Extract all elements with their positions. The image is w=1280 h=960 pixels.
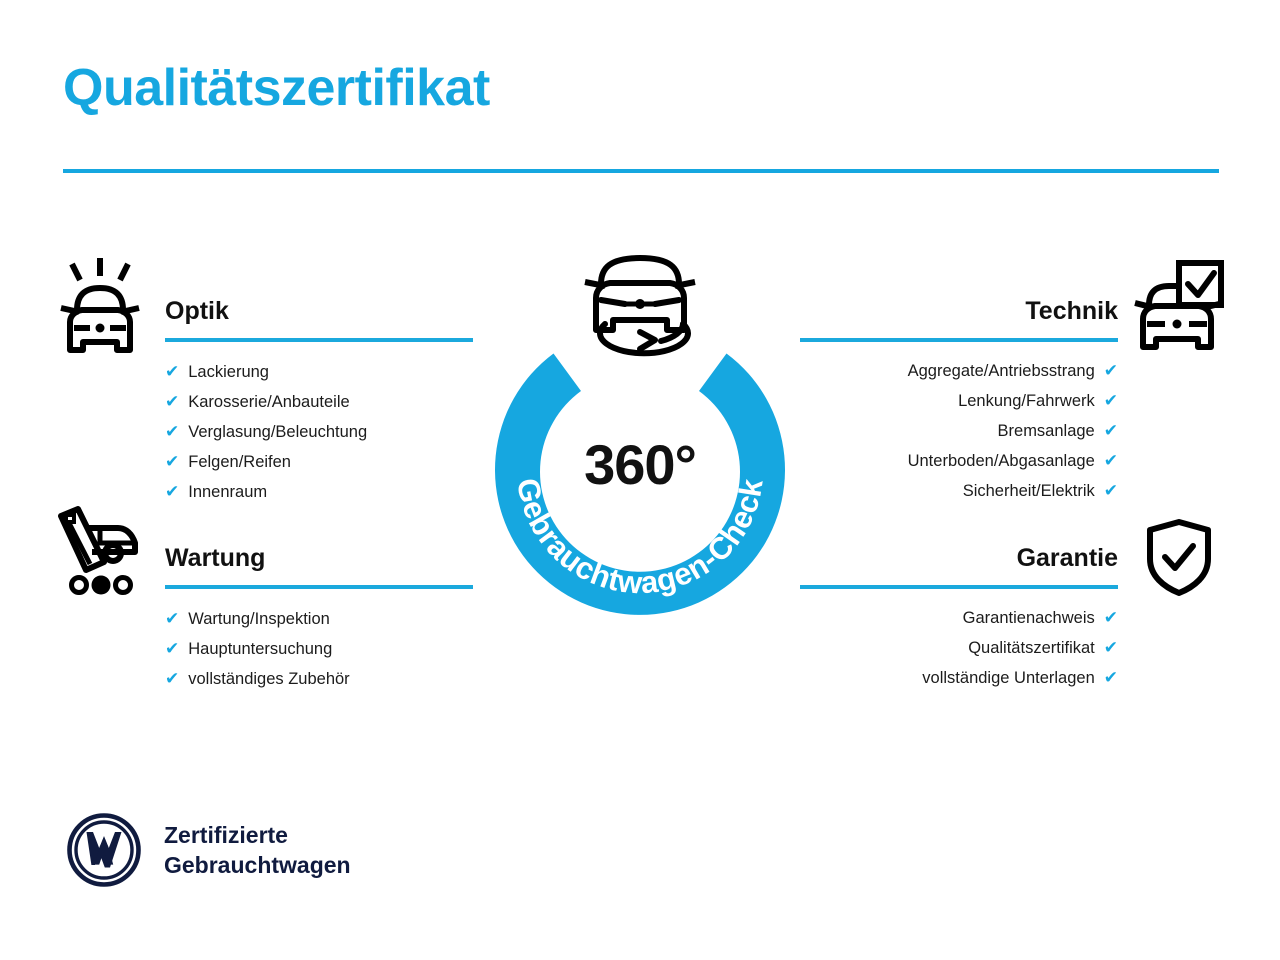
gebrauchtwagen-check-badge: Gebrauchtwagen-Check 360° [465, 250, 815, 640]
check-icon: ✔ [165, 387, 179, 417]
checklist-garantie: Garantienachweis✔ Qualitätszertifikat✔ v… [800, 603, 1118, 693]
section-divider-optik [165, 338, 473, 342]
list-item-label: vollständiges Zubehör [188, 664, 349, 694]
car-shine-icon [57, 256, 143, 361]
brand-wordmark: Zertifizierte Gebrauchtwagen [164, 820, 351, 880]
section-title-optik: Optik [165, 296, 473, 326]
brand-lockup: Zertifizierte Gebrauchtwagen [66, 812, 351, 888]
brand-line-1: Zertifizierte [164, 820, 351, 850]
shield-check-icon [1145, 518, 1213, 601]
list-item: Bremsanlage✔ [800, 416, 1118, 446]
list-item-label: Bremsanlage [998, 416, 1095, 446]
brand-line-2: Gebrauchtwagen [164, 850, 351, 880]
list-item-label: Verglasung/Beleuchtung [188, 417, 367, 447]
check-icon: ✔ [1104, 476, 1118, 506]
check-icon: ✔ [165, 447, 179, 477]
list-item: Unterboden/Abgasanlage✔ [800, 446, 1118, 476]
list-item: ✔Hauptuntersuchung [165, 634, 473, 664]
section-title-garantie: Garantie [800, 543, 1118, 573]
list-item-label: Lenkung/Fahrwerk [958, 386, 1095, 416]
section-header-garantie: Garantie [800, 543, 1118, 589]
check-icon: ✔ [165, 417, 179, 447]
checklist-optik: ✔Lackierung ✔Karosserie/Anbauteile ✔Verg… [165, 357, 473, 507]
list-item-label: vollständige Unterlagen [922, 663, 1094, 693]
list-item-label: Karosserie/Anbauteile [188, 387, 349, 417]
volkswagen-logo-icon [66, 812, 142, 888]
car-checkbox-icon [1133, 259, 1225, 356]
section-divider-garantie [800, 585, 1118, 589]
list-item-label: Innenraum [188, 477, 267, 507]
section-divider-technik [800, 338, 1118, 342]
section-title-technik: Technik [800, 296, 1118, 326]
section-wartung: Wartung ✔Wartung/Inspektion ✔Hauptunters… [165, 543, 473, 694]
check-icon: ✔ [1104, 603, 1118, 633]
badge-value: 360° [465, 435, 815, 495]
check-icon: ✔ [1104, 356, 1118, 386]
check-icon: ✔ [1104, 416, 1118, 446]
section-garantie: Garantie Garantienachweis✔ Qualitätszert… [800, 543, 1118, 693]
list-item: ✔vollständiges Zubehör [165, 664, 473, 694]
list-item: ✔Wartung/Inspektion [165, 604, 473, 634]
list-item: ✔Lackierung [165, 357, 473, 387]
section-header-optik: Optik [165, 296, 473, 342]
section-title-wartung: Wartung [165, 543, 473, 573]
check-icon: ✔ [165, 604, 179, 634]
list-item: ✔Verglasung/Beleuchtung [165, 417, 473, 447]
list-item: Sicherheit/Elektrik✔ [800, 476, 1118, 506]
title-divider [63, 169, 1219, 173]
list-item-label: Sicherheit/Elektrik [963, 476, 1095, 506]
section-header-wartung: Wartung [165, 543, 473, 589]
check-icon: ✔ [1104, 633, 1118, 663]
check-icon: ✔ [165, 634, 179, 664]
check-icon: ✔ [1104, 663, 1118, 693]
car-lift-service-icon [56, 506, 146, 603]
list-item: Lenkung/Fahrwerk✔ [800, 386, 1118, 416]
checklist-wartung: ✔Wartung/Inspektion ✔Hauptuntersuchung ✔… [165, 604, 473, 694]
section-header-technik: Technik [800, 296, 1118, 342]
list-item-label: Garantienachweis [963, 603, 1095, 633]
list-item-label: Hauptuntersuchung [188, 634, 332, 664]
list-item: Qualitätszertifikat✔ [800, 633, 1118, 663]
car-rotate-360-icon [565, 250, 715, 360]
checklist-technik: Aggregate/Antriebsstrang✔ Lenkung/Fahrwe… [800, 356, 1118, 506]
section-optik: Optik ✔Lackierung ✔Karosserie/Anbauteile… [165, 296, 473, 507]
section-technik: Technik Aggregate/Antriebsstrang✔ Lenkun… [800, 296, 1118, 506]
list-item: Aggregate/Antriebsstrang✔ [800, 356, 1118, 386]
check-icon: ✔ [165, 664, 179, 694]
list-item-label: Aggregate/Antriebsstrang [908, 356, 1095, 386]
list-item: vollständige Unterlagen✔ [800, 663, 1118, 693]
list-item: ✔Innenraum [165, 477, 473, 507]
check-icon: ✔ [165, 477, 179, 507]
list-item-label: Qualitätszertifikat [968, 633, 1095, 663]
check-icon: ✔ [1104, 386, 1118, 416]
list-item-label: Wartung/Inspektion [188, 604, 330, 634]
check-icon: ✔ [1104, 446, 1118, 476]
list-item-label: Unterboden/Abgasanlage [908, 446, 1095, 476]
list-item: ✔Felgen/Reifen [165, 447, 473, 477]
page-title: Qualitätszertifikat [63, 60, 490, 117]
section-divider-wartung [165, 585, 473, 589]
list-item-label: Felgen/Reifen [188, 447, 291, 477]
list-item-label: Lackierung [188, 357, 269, 387]
check-icon: ✔ [165, 357, 179, 387]
list-item: Garantienachweis✔ [800, 603, 1118, 633]
list-item: ✔Karosserie/Anbauteile [165, 387, 473, 417]
